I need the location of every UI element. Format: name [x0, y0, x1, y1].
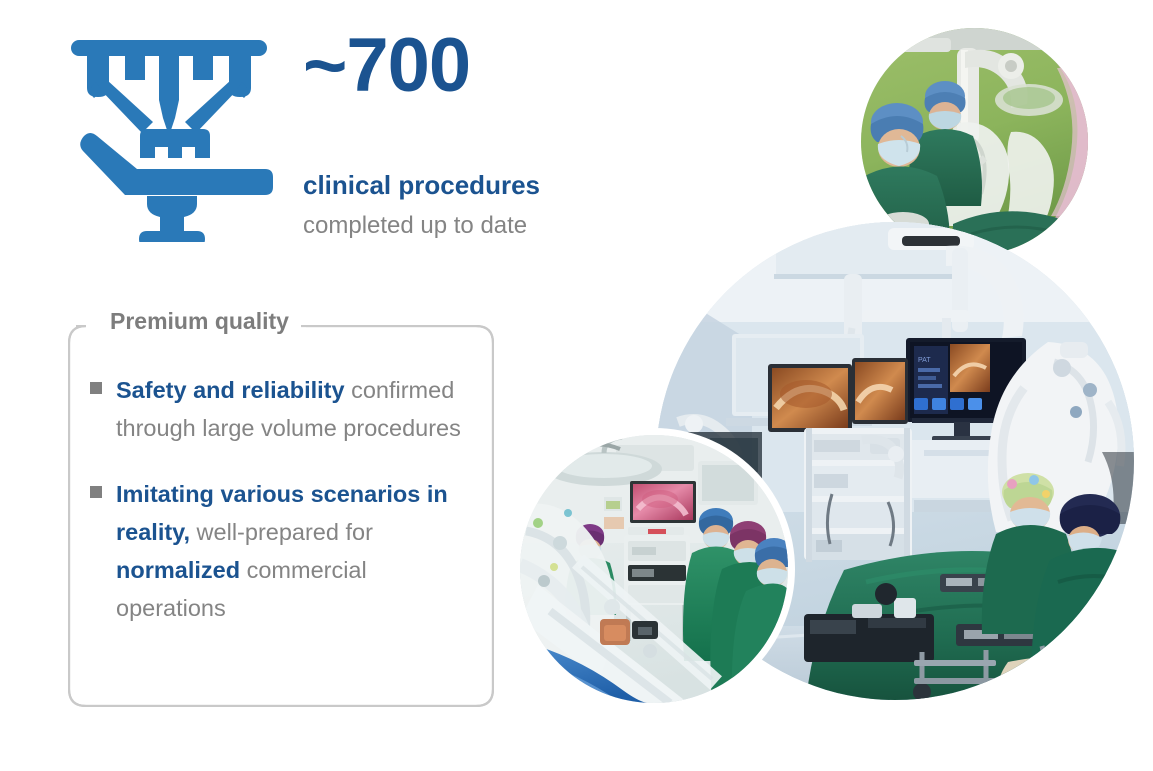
- square-bullet-icon: [90, 486, 102, 498]
- list-item: Safety and reliability confirmed through…: [90, 371, 476, 447]
- photo-cluster: PAT: [500, 0, 1153, 771]
- quality-bullet-list: Safety and reliability confirmed through…: [90, 371, 476, 655]
- bullet-bold-emphasis: normalized: [116, 557, 240, 583]
- premium-quality-box: Premium quality Safety and reliability c…: [68, 325, 494, 707]
- square-bullet-icon: [90, 382, 102, 394]
- surgical-robot-icon: [63, 30, 275, 242]
- photo-robotic-arms-closeup: [513, 428, 795, 710]
- svg-text:PAT: PAT: [918, 357, 931, 364]
- bullet-text: Safety and reliability confirmed through…: [116, 371, 476, 447]
- bullet-bold-lead: Safety and reliability: [116, 377, 345, 403]
- list-item: Imitating various scenarios in reality, …: [90, 475, 476, 627]
- bullet-text: Imitating various scenarios in reality, …: [116, 475, 476, 627]
- bullet-body: well-prepared for: [190, 519, 373, 545]
- slide-canvas: ~700 clinical procedures completed up to…: [0, 0, 1153, 771]
- premium-quality-legend: Premium quality: [102, 308, 301, 336]
- photo-surgeons-robotic-arms: [861, 28, 1088, 255]
